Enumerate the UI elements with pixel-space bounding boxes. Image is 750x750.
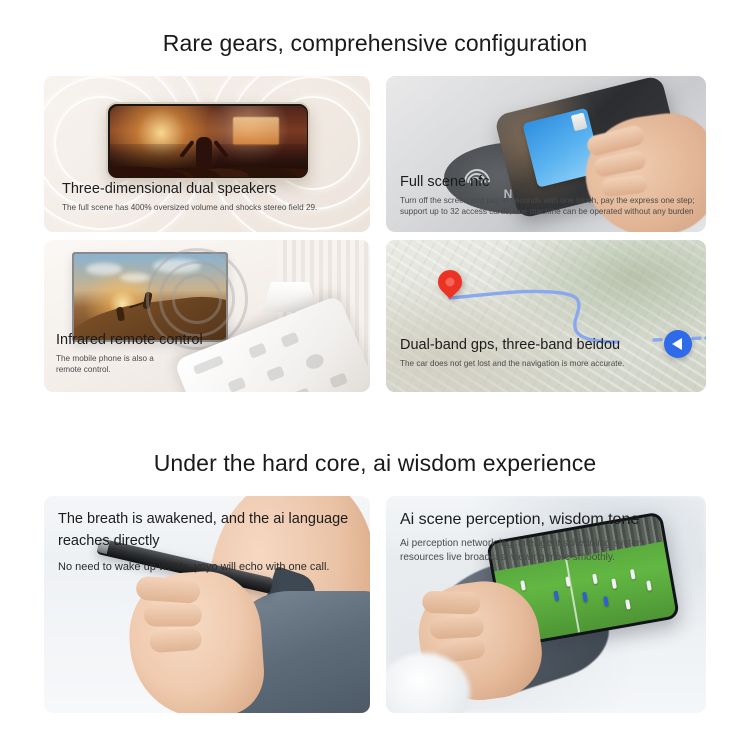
phone-landscape-concert [106,102,310,180]
section-title-hard-core: Under the hard core, ai wisdom experienc… [0,450,750,477]
infrared-heading: Infrared remote control [56,331,203,349]
nfc-subtext-line-2: support up to 32 access cards, one machi… [400,206,694,218]
card-ai-scene-perception[interactable]: Ai scene perception, wisdom tone Ai perc… [386,496,706,713]
card-dual-band-gps[interactable]: Dual-band gps, three-band beidou The car… [386,240,706,392]
card-three-dimensional-dual-speakers[interactable]: Three-dimensional dual speakers The full… [44,76,370,232]
speakers-heading: Three-dimensional dual speakers [62,180,317,198]
card-breath-awakened-ai-language[interactable]: The breath is awakened, and the ai langu… [44,496,370,713]
speakers-subtext: The full scene has 400% oversized volume… [62,202,317,214]
speakers-text-block: Three-dimensional dual speakers The full… [62,180,317,214]
navigation-arrow-icon[interactable] [664,330,692,358]
ai-scene-subtext-line-1: Ai perception network lag, intelligent s… [400,537,645,551]
nfc-heading: Full scene nfc [400,173,694,191]
nfc-text-block: Full scene nfc Turn off the screen and p… [400,173,694,218]
gps-heading: Dual-band gps, three-band beidou [400,336,624,354]
voice-heading-line-2: reaches directly [58,532,348,550]
voice-subtext: No need to wake up words, yoyo will echo… [58,560,348,576]
ai-scene-heading: Ai scene perception, wisdom tone [400,510,645,530]
infrared-subtext-line-1: The mobile phone is also a [56,353,203,365]
voice-text-block: The breath is awakened, and the ai langu… [58,510,348,576]
ai-scene-subtext-line-2: resources live broadcast viewing more sm… [400,551,645,565]
gps-text-block: Dual-band gps, three-band beidou The car… [400,336,624,370]
concert-scene-image [110,106,307,177]
gps-subtext: The car does not get lost and the naviga… [400,358,624,370]
card-full-scene-nfc[interactable]: NFC Full scene nfc Turn off the screen a… [386,76,706,232]
infrared-subtext-line-2: remote control. [56,364,203,376]
infrared-text-block: Infrared remote control The mobile phone… [56,331,203,376]
section-title-rare-gears: Rare gears, comprehensive configuration [0,30,750,57]
marketing-page: Rare gears, comprehensive configuration [0,0,750,750]
pitch-centre-line [565,558,580,633]
ai-scene-text-block: Ai scene perception, wisdom tone Ai perc… [400,510,645,565]
card-infrared-remote-control[interactable]: Infrared remote control The mobile phone… [44,240,370,392]
nfc-subtext-line-1: Turn off the screen and pay in seconds w… [400,195,694,207]
voice-heading-line-1: The breath is awakened, and the ai langu… [58,510,348,528]
